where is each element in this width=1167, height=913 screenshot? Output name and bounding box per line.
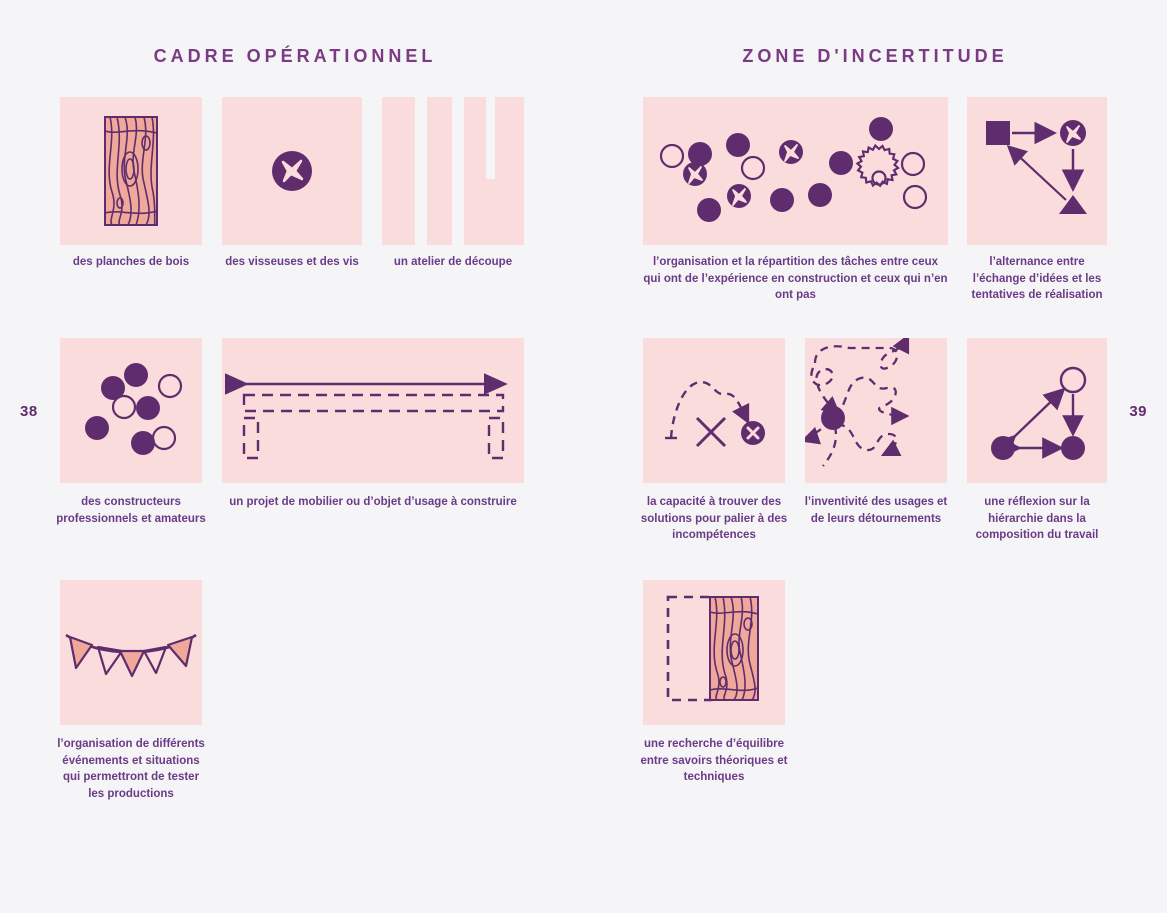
column-title-operational: CADRE OPÉRATIONNEL (60, 46, 530, 67)
detour-path-icon (643, 338, 785, 483)
tile-visseuses (222, 97, 362, 245)
tile-alternance (967, 97, 1107, 245)
scattered-dots-gear-icon (643, 97, 948, 245)
spread-page: 38 39 CADRE OPÉRATIONNEL ZONE D'INCERTIT… (0, 0, 1167, 913)
caption-projet-mobilier: un projet de mobilier ou d’objet d’usage… (222, 494, 524, 511)
tile-capacite (643, 338, 785, 483)
screw-head-circle-icon (222, 97, 362, 245)
caption-alternance: l’alternance entre l’échange d’idées et … (962, 254, 1112, 304)
cross-obstacle-icon (697, 418, 725, 446)
dashed-solid-plank-icon (643, 580, 785, 725)
caption-organisation: l’organisation et la répartition des tâc… (643, 254, 948, 304)
tile-inventivite (805, 338, 947, 483)
dashed-bench-icon (222, 338, 524, 483)
page-number-right: 39 (1129, 403, 1147, 420)
dots-cluster-icon (60, 338, 202, 483)
column-title-uncertainty: ZONE D'INCERTITUDE (640, 46, 1110, 67)
caption-equilibre: une recherche d’équilibre entre savoirs … (638, 736, 790, 786)
tile-constructeurs (60, 338, 202, 483)
bunting-flags-icon (60, 580, 202, 725)
gear-icon (857, 146, 898, 186)
caption-planches-de-bois: des planches de bois (60, 254, 202, 271)
wood-plank-icon (60, 97, 202, 245)
caption-visseuses: des visseuses et des vis (212, 254, 372, 271)
tile-reflexion-hierarchie (967, 338, 1107, 483)
cut-slats-icon (382, 97, 524, 245)
caption-reflexion-hierarchie: une réflexion sur la hiérarchie dans la … (962, 494, 1112, 544)
cycle-flow-icon (967, 97, 1107, 245)
tile-organisation (643, 97, 948, 245)
tile-projet-mobilier (222, 338, 524, 483)
caption-atelier-decoupe: un atelier de découpe (372, 254, 534, 271)
tile-evenements (60, 580, 202, 725)
tangled-paths-icon (805, 338, 947, 483)
caption-constructeurs: des constructeurs professionnels et amat… (55, 494, 207, 527)
caption-evenements: l’organisation de différents événements … (55, 736, 207, 803)
page-number-left: 38 (20, 403, 38, 420)
tile-atelier-decoupe (382, 97, 524, 245)
tile-planches-de-bois (60, 97, 202, 245)
hierarchy-triangle-icon (967, 338, 1107, 483)
caption-capacite: la capacité à trouver des solutions pour… (638, 494, 790, 544)
tile-equilibre (643, 580, 785, 725)
hub-dot (821, 406, 845, 430)
square-node (986, 121, 1010, 145)
caption-inventivite: l’inventivité des usages et de leurs dét… (800, 494, 952, 527)
